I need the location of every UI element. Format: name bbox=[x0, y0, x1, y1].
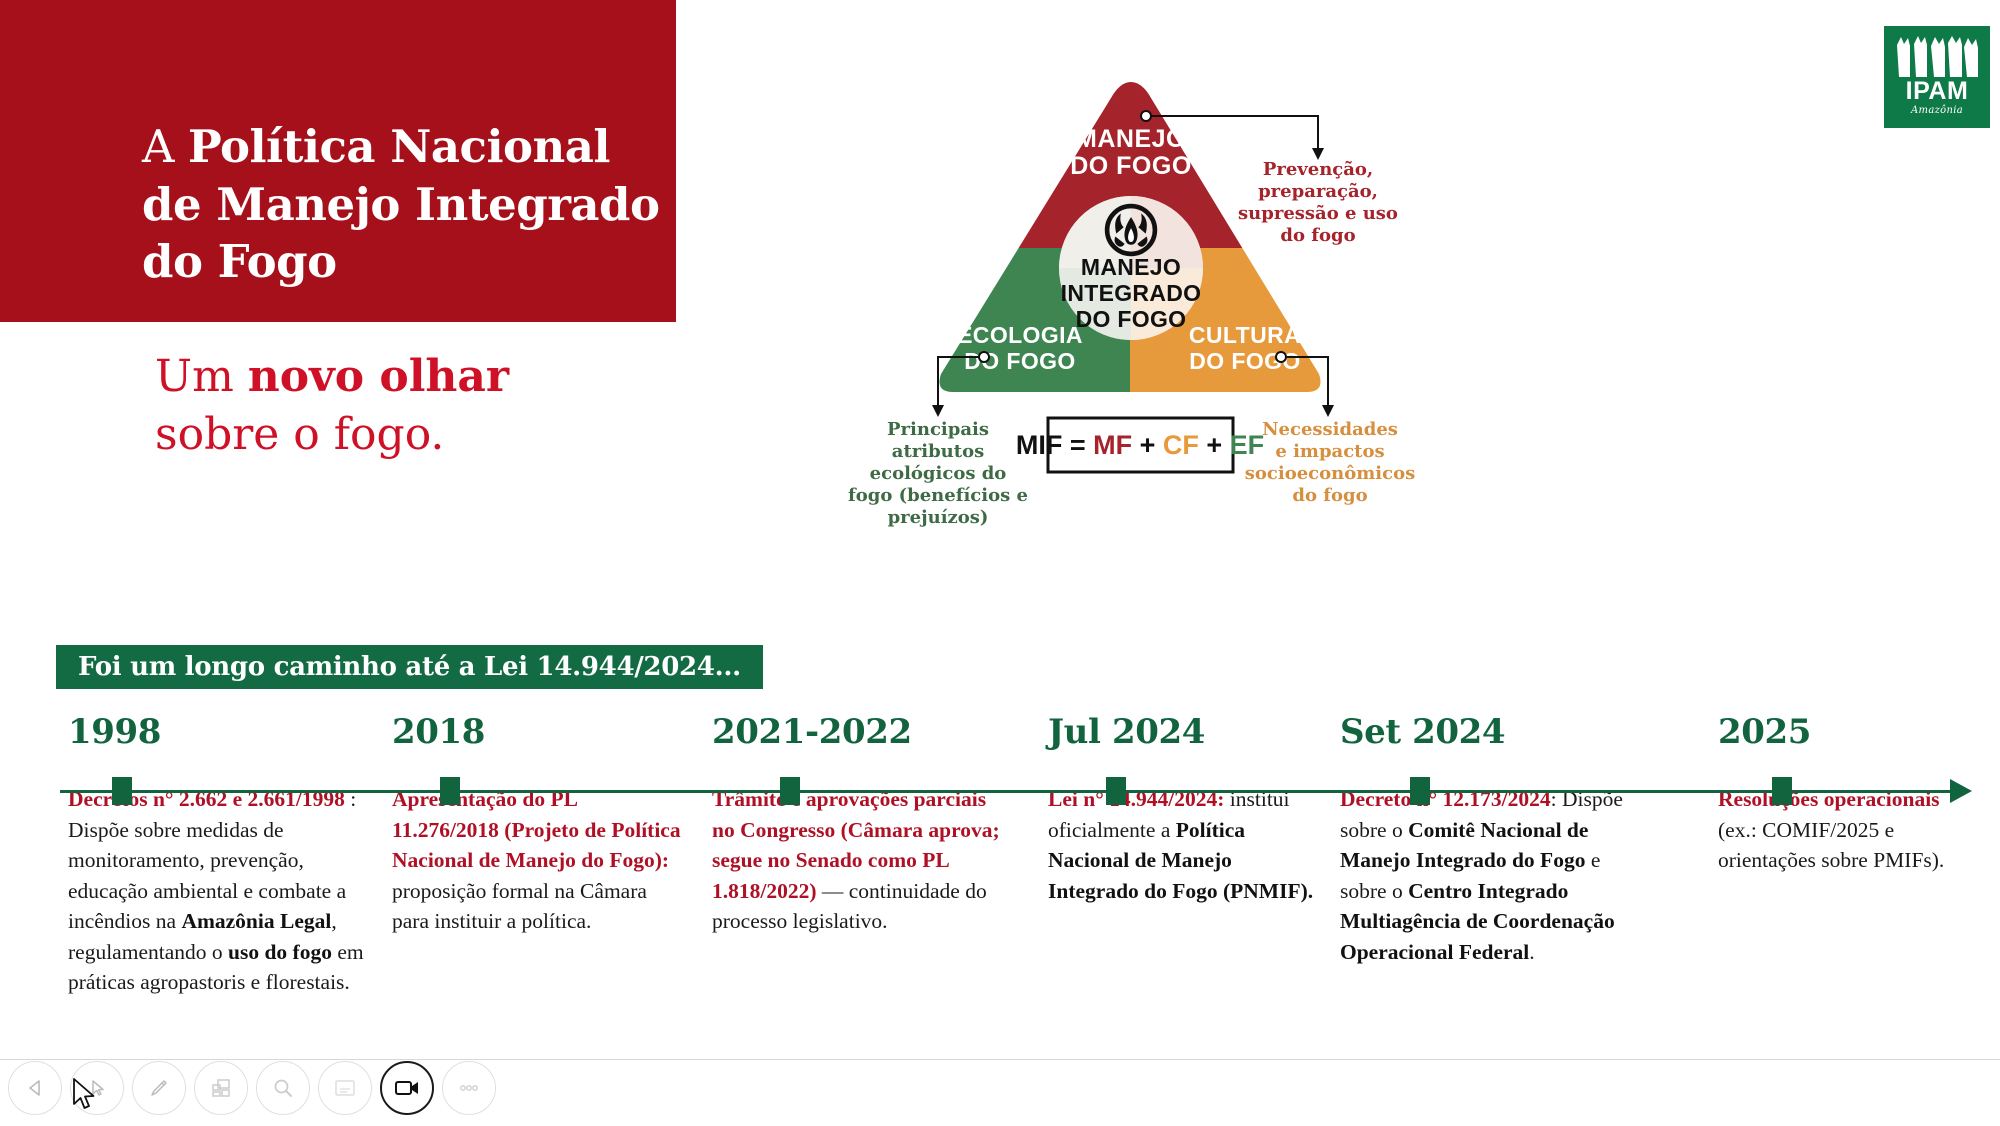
manejo-label-line2: DO FOGO bbox=[1070, 152, 1192, 180]
callout-right-line-2: socioeconômicos bbox=[1245, 463, 1415, 484]
slide-layout-button[interactable] bbox=[194, 1061, 248, 1115]
timeline-entry-set-2024: Set 2024 Decreto n° 12.173/2024: Dispõe … bbox=[1340, 712, 1650, 967]
timeline-year-label: Set 2024 bbox=[1340, 712, 1650, 752]
zoom-tool-button[interactable] bbox=[256, 1061, 310, 1115]
present-video-button[interactable] bbox=[380, 1061, 434, 1115]
callout-top-line-1: preparação, bbox=[1258, 181, 1378, 202]
mif-formula-box: MIF = MF + CF + EF bbox=[1016, 418, 1264, 472]
manejo-label-line1: MANEJO bbox=[1076, 125, 1186, 153]
callout-left-line-0: Principais bbox=[887, 419, 989, 440]
callout-right-text: Necessidades e impactos socioeconômicos … bbox=[1245, 419, 1415, 506]
cultura-label-line1: CULTURA bbox=[1189, 322, 1301, 348]
page-title: A Política Nacional de Manejo Integrado … bbox=[142, 118, 662, 291]
forest-trees-icon bbox=[1895, 35, 1979, 77]
timeline-entry-2021-2022: 2021-2022 Trâmite e aprovações parciais … bbox=[712, 712, 1012, 937]
timeline-marker-2021-2022 bbox=[780, 777, 800, 805]
formula-plus2: + bbox=[1199, 430, 1230, 460]
pointer-tool-button[interactable] bbox=[70, 1061, 124, 1115]
presentation-toolbar bbox=[0, 1059, 2000, 1126]
timeline-text-run: Amazônia Legal bbox=[181, 909, 331, 933]
center-label-line3: DO FOGO bbox=[1076, 306, 1187, 332]
callout-right-line-3: do fogo bbox=[1292, 485, 1367, 506]
formula-mif: MIF bbox=[1016, 430, 1063, 460]
timeline-description: Trâmite e aprovações parciais no Congres… bbox=[712, 784, 1012, 937]
timeline-marker-1998 bbox=[112, 777, 132, 805]
fire-management-triangle-diagram: MANEJO DO FOGO ECOLOGIA DO FOGO CULTURA … bbox=[820, 60, 1620, 640]
pen-tool-button[interactable] bbox=[132, 1061, 186, 1115]
timeline-text-run: (ex.: COMIF/2025 e orientações sobre PMI… bbox=[1718, 818, 1944, 873]
center-label-line1: MANEJO bbox=[1081, 254, 1181, 280]
timeline-text-run: proposição formal na Câmara para institu… bbox=[392, 879, 647, 934]
title-main: Política Nacional de Manejo Integrado do… bbox=[142, 120, 660, 288]
formula-mf: MF bbox=[1093, 430, 1132, 460]
callout-top-line-0: Prevenção, bbox=[1263, 159, 1373, 180]
magnifier-icon bbox=[272, 1077, 294, 1099]
callout-left-text: Principais atributos ecológicos do fogo … bbox=[848, 419, 1028, 528]
timeline-year-label: 2025 bbox=[1718, 712, 1968, 752]
timeline-arrow-head bbox=[1950, 779, 1972, 803]
timeline-entry-1998: 1998 Decretos n° 2.662 e 2.661/1998 : Di… bbox=[68, 712, 368, 998]
callout-left-line-1: atributos bbox=[892, 441, 984, 462]
ipam-wordmark: IPAM bbox=[1906, 79, 1969, 104]
timeline-marker-jul-2024 bbox=[1106, 777, 1126, 805]
timeline-year-label: 2021-2022 bbox=[712, 712, 1012, 752]
cursor-arrow-icon bbox=[87, 1078, 107, 1098]
callout-left-line-2: ecológicos do bbox=[870, 463, 1007, 484]
timeline-banner: Foi um longo caminho até a Lei 14.944/20… bbox=[56, 645, 763, 689]
right-segment-label: CULTURA DO FOGO bbox=[1189, 322, 1301, 374]
title-prefix: A bbox=[142, 120, 188, 173]
formula-eq: = bbox=[1062, 430, 1093, 460]
timeline-entry-2025: 2025 Resoluções operacionais (ex.: COMIF… bbox=[1718, 712, 1968, 876]
pen-icon bbox=[148, 1077, 170, 1099]
top-segment-label: MANEJO DO FOGO bbox=[1070, 125, 1192, 180]
callout-left-line-3: fogo (benefícios e bbox=[848, 485, 1028, 506]
left-segment-label: ECOLOGIA DO FOGO bbox=[957, 322, 1083, 374]
timeline-year-label: 2018 bbox=[392, 712, 682, 752]
callout-top-text: Prevenção, preparação, supressão e uso d… bbox=[1238, 159, 1398, 246]
timeline-year-label: 1998 bbox=[68, 712, 368, 752]
previous-slide-button[interactable] bbox=[8, 1061, 62, 1115]
center-label: MANEJO INTEGRADO DO FOGO bbox=[1061, 254, 1202, 332]
timeline-description: Resoluções operacionais (ex.: COMIF/2025… bbox=[1718, 784, 1968, 876]
timeline-text-run: . bbox=[1529, 940, 1534, 964]
timeline-description: Lei n° 14.944/2024: institui oficialment… bbox=[1048, 784, 1328, 906]
timeline-marker-2018 bbox=[440, 777, 460, 805]
timeline-description: Decretos n° 2.662 e 2.661/1998 : Dispõe … bbox=[68, 784, 368, 998]
ipam-logo: IPAM Amazônia bbox=[1884, 26, 1990, 128]
more-options-button[interactable] bbox=[442, 1061, 496, 1115]
timeline-text-run: Apresentação do PL 11.276/2018 (Projeto … bbox=[392, 787, 681, 872]
subtitle-lead: Um bbox=[155, 351, 248, 402]
timeline-description: Decreto n° 12.173/2024: Dispõe sobre o C… bbox=[1340, 784, 1650, 967]
ipam-tagline: Amazônia bbox=[1911, 105, 1963, 116]
layout-icon bbox=[210, 1077, 232, 1099]
ellipsis-icon bbox=[457, 1083, 481, 1093]
formula-cf: CF bbox=[1163, 430, 1199, 460]
page-subtitle: Um novo olhar sobre o fogo. bbox=[155, 348, 695, 464]
timeline-axis-line bbox=[60, 790, 1965, 793]
callout-right-line-0: Necessidades bbox=[1262, 419, 1398, 440]
notes-button[interactable] bbox=[318, 1061, 372, 1115]
timeline-banner-label: Foi um longo caminho até a Lei 14.944/20… bbox=[78, 652, 741, 682]
video-camera-icon bbox=[394, 1078, 420, 1098]
timeline-text-run: uso do fogo bbox=[228, 940, 332, 964]
callout-left-line-4: prejuízos) bbox=[888, 507, 989, 528]
triangle-left-icon bbox=[25, 1078, 45, 1098]
timeline: 1998 Decretos n° 2.662 e 2.661/1998 : Di… bbox=[0, 712, 2000, 1092]
formula-plus1: + bbox=[1132, 430, 1163, 460]
subtitle-tail: sobre o fogo. bbox=[155, 409, 444, 460]
subtitle-bold: novo olhar bbox=[248, 351, 509, 402]
formula-ef: EF bbox=[1230, 430, 1265, 460]
timeline-marker-set-2024 bbox=[1410, 777, 1430, 805]
callout-top-line-2: supressão e uso bbox=[1238, 203, 1398, 224]
ecologia-label-line1: ECOLOGIA bbox=[957, 322, 1083, 348]
timeline-marker-2025 bbox=[1772, 777, 1792, 805]
callout-top-line-3: do fogo bbox=[1280, 225, 1355, 246]
svg-text:MIF = MF + CF + EF: MIF = MF + CF + EF bbox=[1016, 430, 1264, 460]
timeline-year-label: Jul 2024 bbox=[1048, 712, 1328, 752]
callout-right-line-1: e impactos bbox=[1275, 441, 1384, 462]
center-label-line2: INTEGRADO bbox=[1061, 280, 1202, 306]
timeline-description: Apresentação do PL 11.276/2018 (Projeto … bbox=[392, 784, 682, 937]
timeline-entry-jul-2024: Jul 2024 Lei n° 14.944/2024: institui of… bbox=[1048, 712, 1328, 906]
timeline-entry-2018: 2018 Apresentação do PL 11.276/2018 (Pro… bbox=[392, 712, 682, 937]
notes-icon bbox=[333, 1077, 357, 1099]
